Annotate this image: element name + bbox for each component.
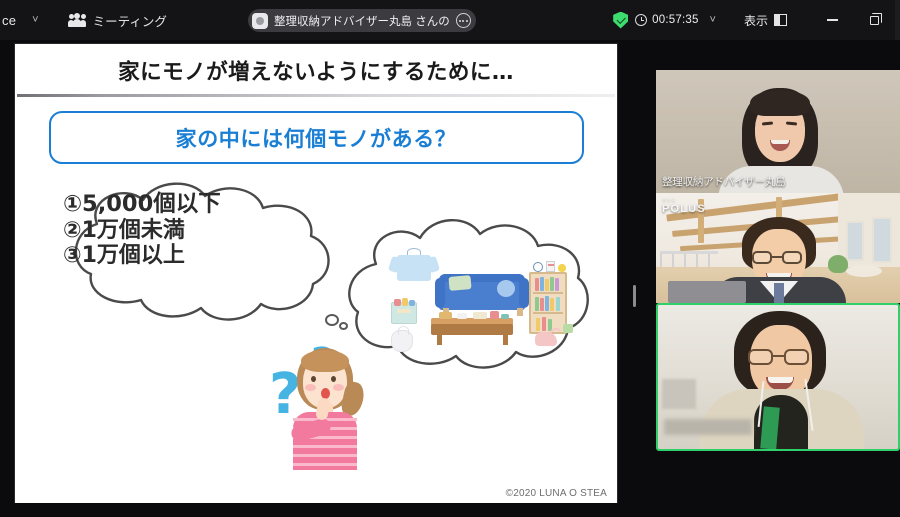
chevron-down-icon[interactable]: ˅ bbox=[26, 11, 44, 30]
maximize-icon bbox=[870, 16, 879, 25]
window-controls bbox=[811, 0, 895, 40]
presentation-slide: 家にモノが増えないようにするために… 家の中には何個モノがある？ ①5,000個… bbox=[14, 43, 618, 505]
layout-icon bbox=[774, 14, 787, 26]
titlebar-right-group: 00:57:35 ˅ 表示 bbox=[613, 0, 900, 40]
timer-chevron-down-icon[interactable]: ˅ bbox=[704, 11, 722, 30]
option-3: ③1万個以上 bbox=[63, 243, 221, 268]
participant-tile-1[interactable]: 整理収納アドバイザー丸島 bbox=[656, 70, 900, 193]
polus-watermark: ポラス POLUS bbox=[662, 197, 706, 215]
slide-artwork: ①5,000個以下 ②1万個未満 ③1万個以上 bbox=[15, 164, 618, 494]
slide-copyright: ©2020 LUNA O STEA bbox=[506, 488, 607, 499]
stage-bottom-strip bbox=[0, 503, 630, 517]
thought-bubble-small-2 bbox=[339, 322, 348, 330]
people-icon bbox=[69, 14, 86, 27]
encryption-shield-icon bbox=[613, 12, 628, 29]
participant-tile-2[interactable]: ポラス POLUS bbox=[656, 193, 900, 303]
view-button[interactable]: 表示 bbox=[744, 12, 787, 29]
polus-watermark-sub: ポラス bbox=[662, 197, 706, 203]
title-divider bbox=[17, 94, 615, 97]
meeting-tab[interactable]: ミーティング bbox=[69, 11, 167, 30]
divider-grip-handle[interactable] bbox=[633, 285, 636, 307]
share-pill-label: 整理収納アドバイザー丸島 さんの bbox=[274, 13, 450, 29]
screen-share-pill[interactable]: 整理収納アドバイザー丸島 さんの bbox=[248, 9, 476, 32]
participant-tile-3-active-speaker[interactable] bbox=[656, 303, 900, 451]
meeting-window: ce ˅ ミーティング 整理収納アドバイザー丸島 さんの 00:57:35 ˅ bbox=[0, 0, 900, 517]
question-text: 家の中には何個モノがある？ bbox=[176, 123, 457, 153]
minimize-button[interactable] bbox=[811, 0, 853, 40]
thought-bubble-small-1 bbox=[325, 314, 339, 326]
option-2: ②1万個未満 bbox=[63, 218, 221, 243]
meeting-timer[interactable]: 00:57:35 ˅ bbox=[635, 11, 722, 30]
view-button-label: 表示 bbox=[744, 12, 768, 29]
more-options-icon[interactable] bbox=[456, 13, 471, 28]
window-edge bbox=[895, 0, 900, 40]
participant-video-3 bbox=[658, 305, 898, 449]
minimize-icon bbox=[827, 19, 838, 20]
option-1: ①5,000個以下 bbox=[63, 192, 221, 218]
clock-icon bbox=[635, 14, 647, 26]
slide-title: 家にモノが増えないようにするために… bbox=[15, 44, 617, 86]
title-bar: ce ˅ ミーティング 整理収納アドバイザー丸島 さんの 00:57:35 ˅ bbox=[0, 0, 900, 40]
participant-name-label-1: 整理収納アドバイザー丸島 bbox=[662, 174, 786, 189]
question-box: 家の中には何個モノがある？ bbox=[49, 111, 584, 164]
titlebar-left-group: ce ˅ ミーティング bbox=[0, 11, 167, 30]
polus-watermark-text: POLUS bbox=[662, 203, 706, 215]
maximize-button[interactable] bbox=[853, 0, 895, 40]
thinking-woman-illustration: ? ? bbox=[251, 342, 361, 472]
messy-room-illustration bbox=[387, 252, 567, 367]
participant-filmstrip: 整理収納アドバイザー丸島 bbox=[656, 40, 900, 517]
options-list: ①5,000個以下 ②1万個未満 ③1万個以上 bbox=[63, 192, 221, 268]
app-name-label: ce bbox=[2, 13, 16, 28]
share-thumbnail-icon bbox=[252, 13, 268, 29]
shared-screen-stage[interactable]: 家にモノが増えないようにするために… 家の中には何個モノがある？ ①5,000個… bbox=[0, 40, 630, 517]
timer-value: 00:57:35 bbox=[652, 14, 698, 26]
meeting-tab-label: ミーティング bbox=[93, 11, 167, 30]
panel-divider[interactable] bbox=[630, 40, 656, 517]
